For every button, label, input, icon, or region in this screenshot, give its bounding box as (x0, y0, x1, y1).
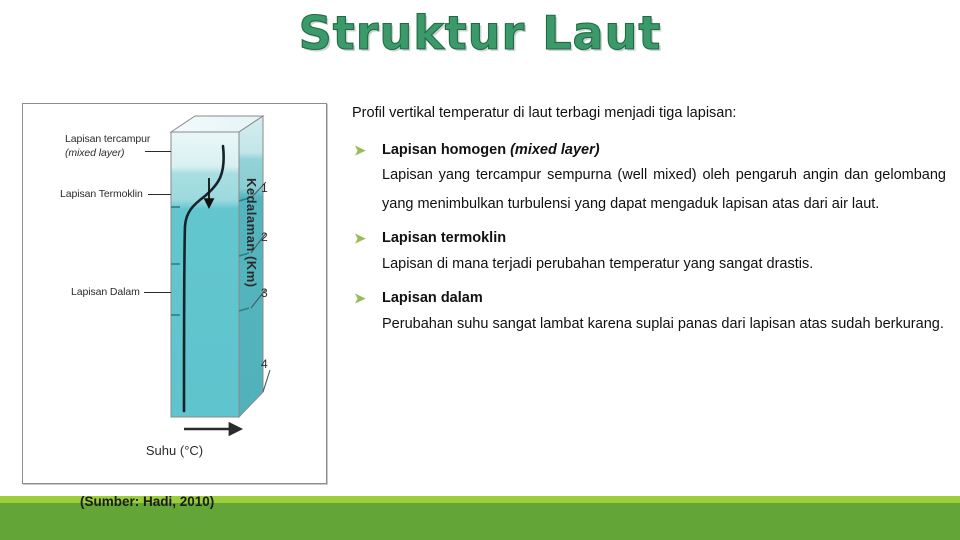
arrow-bullet-icon: ➤ (354, 231, 366, 245)
figure-label-deep-layer: Lapisan Dalam (71, 286, 140, 298)
leader-line-thermocline (148, 194, 171, 195)
depth-axis-title: Kedalaman (Km) (244, 178, 259, 378)
content-column: Profil vertikal temperatur di laut terba… (352, 104, 946, 348)
depth-tick-4: 4 (261, 357, 268, 371)
bullet-block-mixed-layer: ➤Lapisan homogen (mixed layer) Lapisan y… (352, 140, 946, 218)
arrow-bullet-icon: ➤ (354, 291, 366, 305)
bullet-heading-mixed-layer: ➤Lapisan homogen (mixed layer) (352, 140, 946, 162)
figure-label-mixed-layer-line2: (mixed layer) (65, 147, 124, 159)
arrow-bullet-icon: ➤ (354, 143, 366, 157)
page-title: Struktur Laut (0, 8, 960, 59)
bullet-body-thermocline: Lapisan di mana terjadi perubahan temper… (352, 250, 946, 278)
bullet-heading-deep-layer: ➤Lapisan dalam (352, 288, 946, 310)
depth-tick-2: 2 (261, 230, 268, 244)
bullet-body-deep-layer: Perubahan suhu sangat lambat karena supl… (352, 310, 946, 338)
depth-tick-3: 3 (261, 286, 268, 300)
bullet-block-thermocline: ➤Lapisan termoklin Lapisan di mana terja… (352, 228, 946, 278)
bullet-heading-italic-text: (mixed layer) (510, 142, 599, 158)
intro-paragraph: Profil vertikal temperatur di laut terba… (352, 104, 946, 124)
temperature-axis-title: Suhu (°C) (23, 443, 326, 458)
bullet-heading-text: Lapisan termoklin (382, 230, 506, 246)
depth-tick-1: 1 (261, 181, 268, 195)
bullet-block-deep-layer: ➤Lapisan dalam Perubahan suhu sangat lam… (352, 288, 946, 338)
bullet-heading-text: Lapisan homogen (382, 142, 510, 158)
ocean-structure-figure: Lapisan tercampur (mixed layer) Lapisan … (22, 103, 327, 484)
ocean-block-diagram (23, 104, 326, 483)
figure-label-thermocline: Lapisan Termoklin (60, 188, 143, 200)
leader-line-deep-layer (144, 292, 171, 293)
figure-label-mixed-layer: Lapisan tercampur (mixed layer) (65, 132, 150, 160)
bullet-body-mixed-layer: Lapisan yang tercampur sempurna (well mi… (352, 161, 946, 218)
bullet-heading-text: Lapisan dalam (382, 290, 483, 306)
figure-source-caption: (Sumber: Hadi, 2010) (80, 494, 214, 509)
bullet-heading-thermocline: ➤Lapisan termoklin (352, 228, 946, 250)
figure-label-mixed-layer-line1: Lapisan tercampur (65, 133, 150, 145)
